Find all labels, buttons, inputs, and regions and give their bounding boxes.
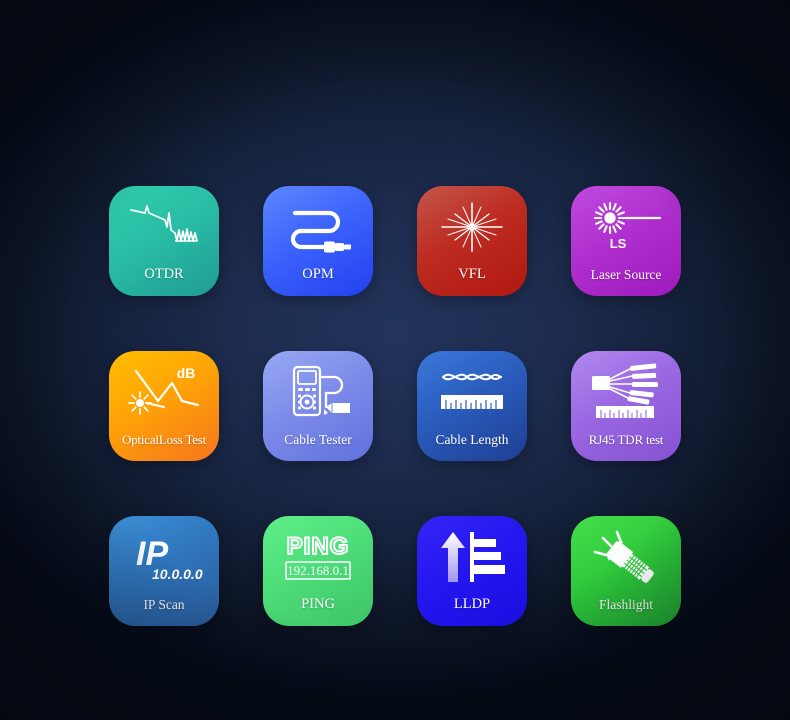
tile-label-ip-scan: IP Scan (109, 597, 219, 626)
tile-label-ping: PING (263, 596, 373, 626)
tile-rj45-tdr-test[interactable]: RJ45 TDR test (571, 351, 681, 461)
tile-laser-source[interactable]: LS Laser Source (571, 186, 681, 296)
arrow-topology-icon (417, 524, 527, 590)
tile-label-otdr: OTDR (109, 266, 219, 296)
tile-optical-loss-test[interactable]: dB (109, 351, 219, 461)
laser-source-ls-text: LS (610, 236, 627, 251)
ping-address-text: 192.168.0.1 (287, 563, 349, 578)
tile-label-flashlight: Flashlight (571, 597, 681, 626)
handheld-tester-icon (263, 359, 373, 425)
tile-vfl[interactable]: VFL (417, 186, 527, 296)
tile-label-lldp: LLDP (417, 596, 527, 626)
tile-flashlight[interactable]: Flashlight (571, 516, 681, 626)
tile-opm[interactable]: OPM (263, 186, 373, 296)
tile-otdr[interactable]: OTDR (109, 186, 219, 296)
tile-cable-length[interactable]: Cable Length (417, 351, 527, 461)
tile-label-optical-loss-test: OpticalLoss Test (109, 432, 219, 461)
laser-sun-beam-icon: LS (571, 194, 681, 260)
tile-label-rj45-tdr-test: RJ45 TDR test (571, 432, 681, 461)
rj45-wires-ruler-icon (571, 359, 681, 425)
tile-ping[interactable]: PING 192.168.0.1 PING (263, 516, 373, 626)
ping-word-text: PING (287, 533, 350, 560)
tile-ip-scan[interactable]: IP 10.0.0.0 IP Scan (109, 516, 219, 626)
promo-page: Multiple Core Functions Meeting the requ… (0, 0, 790, 720)
starburst-icon (417, 194, 527, 260)
tile-label-laser-source: Laser Source (571, 267, 681, 296)
loss-curve-db-icon: dB (109, 359, 219, 425)
fiber-patchcord-icon (263, 194, 373, 260)
ping-icon: PING 192.168.0.1 (263, 524, 373, 590)
tile-cable-tester[interactable]: Cable Tester (263, 351, 373, 461)
twisted-pair-ruler-icon (417, 359, 527, 425)
tile-lldp[interactable]: LLDP (417, 516, 527, 626)
tile-label-cable-tester: Cable Tester (263, 432, 373, 461)
tile-label-cable-length: Cable Length (417, 432, 527, 461)
torch-icon (571, 524, 681, 590)
optical-loss-db-text: dB (177, 365, 196, 381)
otdr-trace-icon (109, 194, 219, 260)
tile-label-vfl: VFL (417, 266, 527, 296)
ip-address-icon: IP 10.0.0.0 (109, 524, 219, 590)
ip-scan-address-text: 10.0.0.0 (152, 566, 203, 582)
tile-label-opm: OPM (263, 266, 373, 296)
